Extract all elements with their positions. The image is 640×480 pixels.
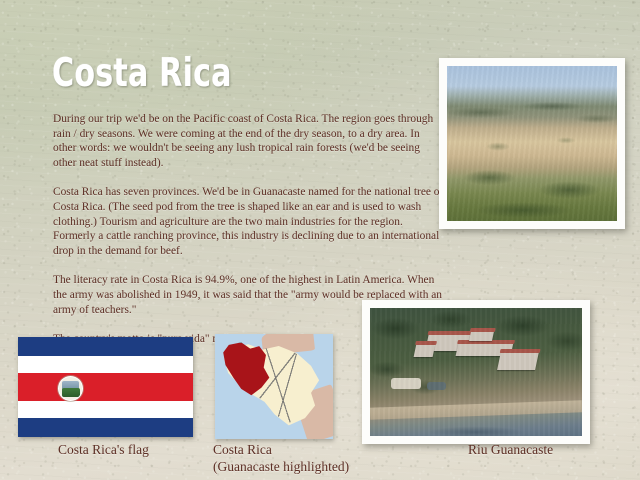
costa-rica-flag-image xyxy=(18,337,193,437)
map-graphic xyxy=(215,334,333,439)
flag-stripe-white-bottom xyxy=(18,401,193,418)
aerial-dry-plains-image xyxy=(447,66,617,221)
caption-map-line2: (Guanacaste highlighted) xyxy=(213,458,388,475)
resort-grounds xyxy=(391,378,421,388)
flag-stripe-white-top xyxy=(18,356,193,373)
presentation-slide: Costa Rica During our trip we'd be on th… xyxy=(0,0,640,480)
caption-flag: Costa Rica's flag xyxy=(58,441,149,458)
flag-stripe-blue-bottom xyxy=(18,418,193,437)
coat-of-arms-icon xyxy=(58,376,83,401)
caption-map: Costa Rica (Guanacaste highlighted) xyxy=(213,441,388,475)
paragraph-intro: During our trip we'd be on the Pacific c… xyxy=(53,112,445,170)
resort-building xyxy=(413,344,435,357)
beach-strip xyxy=(370,400,582,419)
resort-building xyxy=(456,343,514,356)
resort-building xyxy=(497,352,539,370)
costa-rica-province-map-image xyxy=(215,334,333,439)
resort-building xyxy=(425,334,471,351)
flag-graphic xyxy=(18,337,193,437)
caption-map-line1: Costa Rica xyxy=(213,441,388,458)
paragraph-provinces: Costa Rica has seven provinces. We'd be … xyxy=(53,185,445,258)
caption-resort: Riu Guanacaste xyxy=(468,441,553,458)
resort-pool xyxy=(427,382,446,390)
resort-building xyxy=(469,331,494,341)
flag-stripe-red xyxy=(18,373,193,401)
riu-guanacaste-resort-photo xyxy=(362,300,590,444)
page-title: Costa Rica xyxy=(52,52,362,96)
aerial-dry-plains-photo xyxy=(439,58,625,229)
riu-guanacaste-resort-image xyxy=(370,308,582,436)
flag-stripe-blue-top xyxy=(18,337,193,356)
